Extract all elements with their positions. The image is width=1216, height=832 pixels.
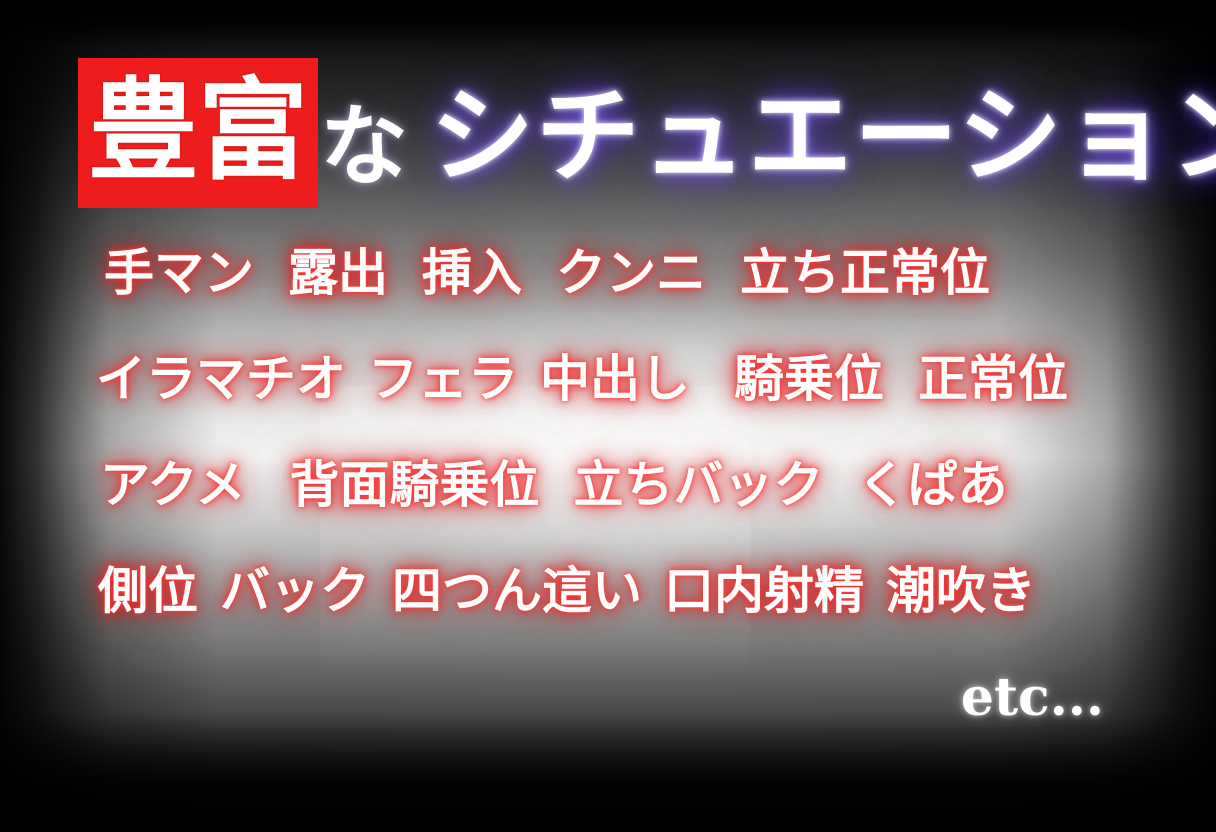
tag-item: 挿入 [422, 248, 522, 298]
promo-banner: 豊富 な シチュエーション 手マン 露出 挿入 クンニ 立ち正常位 イラマチオ … [0, 0, 1216, 832]
tag-list: 手マン 露出 挿入 クンニ 立ち正常位 イラマチオ フェラ 中出し 騎乗位 正常… [0, 248, 1216, 672]
tag-row: イラマチオ フェラ 中出し 騎乗位 正常位 [0, 354, 1216, 460]
tag-item: フェラ [368, 354, 518, 404]
tag-item: クンニ [556, 248, 706, 298]
etc-label: etc... [961, 667, 1104, 728]
tag-item: 中出し [540, 354, 690, 404]
tag-item: 四つん這い [392, 566, 642, 616]
headline-connector: な [320, 102, 408, 190]
headline: 豊富 な シチュエーション [78, 58, 1216, 208]
tag-row: 手マン 露出 挿入 クンニ 立ち正常位 [0, 248, 1216, 354]
tag-item: 潮吹き [886, 566, 1036, 616]
tag-item: アクメ [100, 460, 246, 510]
tag-item: 露出 [288, 248, 388, 298]
tag-item: 正常位 [918, 354, 1068, 404]
tag-item: 背面騎乗位 [290, 460, 540, 510]
headline-badge: 豊富 [78, 58, 318, 208]
tag-item: 手マン [104, 248, 254, 298]
tag-item: 騎乗位 [734, 354, 884, 404]
tag-row: アクメ 背面騎乗位 立ちバック くぱあ [0, 460, 1216, 566]
banner-content: 豊富 な シチュエーション 手マン 露出 挿入 クンニ 立ち正常位 イラマチオ … [0, 0, 1216, 832]
tag-item: 側位 [98, 566, 198, 616]
tag-item: イラマチオ [96, 354, 346, 404]
headline-main-text: シチュエーション [430, 84, 1216, 188]
tag-item: 立ちバック [574, 460, 824, 510]
tag-item: 立ち正常位 [740, 248, 990, 298]
tag-row: 側位 バック 四つん這い 口内射精 潮吹き [0, 566, 1216, 672]
tag-item: くぱあ [858, 460, 1008, 510]
etc-label-wrap: etc... [961, 672, 1104, 724]
tag-item: バック [220, 566, 370, 616]
tag-item: 口内射精 [664, 566, 864, 616]
